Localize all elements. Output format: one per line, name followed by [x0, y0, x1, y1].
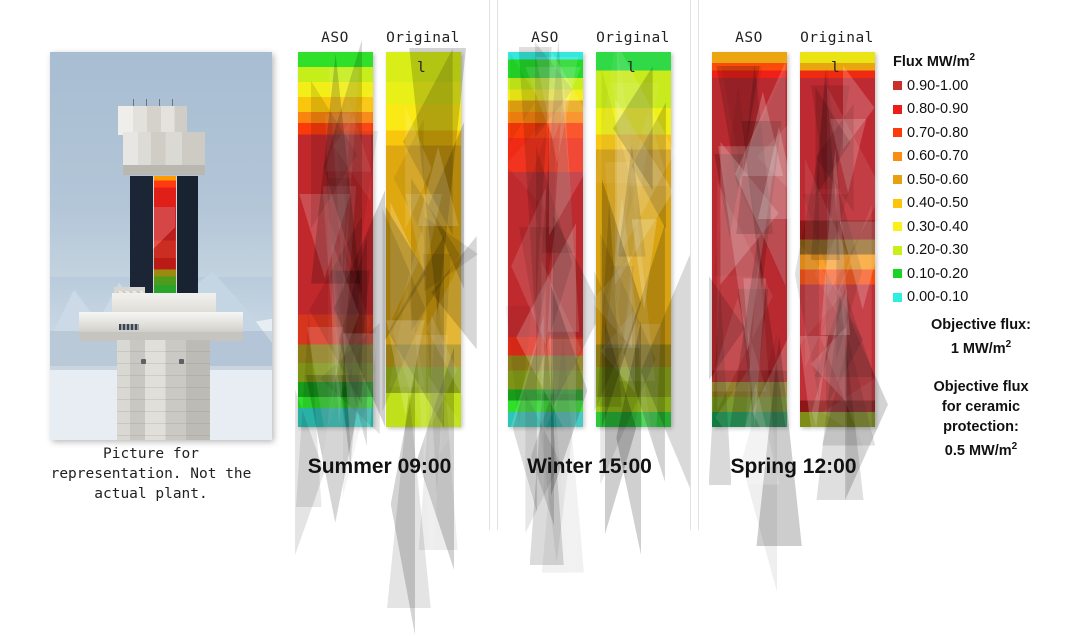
legend-row: 0.50-0.60 — [893, 168, 1065, 192]
flux-map-column-header: Original — [590, 30, 676, 46]
ceramic-value: 0.5 MW/m2 — [897, 437, 1065, 461]
panel-divider — [489, 0, 490, 530]
panel-divider — [497, 0, 498, 530]
tower-vent — [119, 324, 139, 330]
flux-map-row — [508, 52, 671, 427]
photo-image — [50, 52, 272, 440]
legend-row: 0.00-0.10 — [893, 285, 1065, 309]
legend-swatch-icon — [893, 222, 902, 231]
legend-swatch-icon — [893, 199, 902, 208]
tower-platform-upper — [112, 293, 216, 313]
legend-row: 0.10-0.20 — [893, 262, 1065, 286]
ceramic-protection-block: Objective flux for ceramic protection: 0… — [893, 377, 1065, 461]
flux-map-column-header: Original — [794, 30, 880, 46]
legend-swatch-icon — [893, 293, 902, 302]
ceramic-title-line-1: Objective flux — [897, 377, 1065, 397]
legend-entries: 0.90-1.000.80-0.900.70-0.800.60-0.700.50… — [893, 74, 1065, 309]
legend-label: 0.10-0.20 — [907, 266, 968, 282]
season-label: Winter 15:00 — [508, 455, 671, 479]
flux-map-row — [712, 52, 875, 427]
receiver-flux-facets — [153, 207, 175, 269]
legend-swatch-icon — [893, 81, 902, 90]
legend-row: 0.40-0.50 — [893, 191, 1065, 215]
flux-facet-overlay — [596, 52, 671, 427]
column-header-wrapped-overflow: l — [627, 60, 636, 76]
legend-label: 0.40-0.50 — [907, 195, 968, 211]
legend-label: 0.60-0.70 — [907, 148, 968, 164]
ceramic-title-line-2: for ceramic — [897, 397, 1065, 417]
photo-caption-line-2: representation. Not the — [20, 464, 282, 484]
flux-map-row — [298, 52, 461, 427]
flux-facet-overlay — [298, 52, 373, 427]
tower-marker-right — [179, 359, 184, 364]
tower-shaft-texture — [117, 340, 210, 440]
flux-map — [596, 52, 671, 427]
flux-map-column-header: ASO — [706, 30, 792, 46]
flux-legend: Flux MW/m2 0.90-1.000.80-0.900.70-0.800.… — [893, 52, 1065, 460]
legend-swatch-icon — [893, 246, 902, 255]
legend-row: 0.90-1.00 — [893, 74, 1065, 98]
objective-flux-block: Objective flux: 1 MW/m2 — [893, 315, 1065, 359]
column-header-wrapped-overflow: l — [831, 60, 840, 76]
legend-title: Flux MW/m2 — [893, 52, 1065, 70]
legend-label: 0.00-0.10 — [907, 289, 968, 305]
flux-facet-overlay — [386, 52, 461, 427]
figure-canvas: Picture for representation. Not the actu… — [0, 0, 1070, 530]
column-headers: ASOOriginal — [712, 30, 875, 54]
flux-map — [800, 52, 875, 427]
legend-label: 0.90-1.00 — [907, 78, 968, 94]
flux-map-column-header: ASO — [502, 30, 588, 46]
legend-swatch-icon — [893, 269, 902, 278]
legend-row: 0.60-0.70 — [893, 144, 1065, 168]
legend-label: 0.50-0.60 — [907, 172, 968, 188]
receiver-panel-left — [130, 176, 153, 292]
season-label: Spring 12:00 — [712, 455, 875, 479]
season-label: Summer 09:00 — [298, 455, 461, 479]
tower-platform-lower — [79, 312, 243, 333]
flux-map-column-header: ASO — [292, 30, 378, 46]
flux-map — [298, 52, 373, 427]
flux-map — [386, 52, 461, 427]
legend-swatch-icon — [893, 175, 902, 184]
panel-divider — [698, 0, 699, 530]
legend-row: 0.80-0.90 — [893, 97, 1065, 121]
flux-map — [712, 52, 787, 427]
flux-facet-overlay — [800, 52, 875, 427]
legend-swatch-icon — [893, 152, 902, 161]
legend-row: 0.70-0.80 — [893, 121, 1065, 145]
flux-map-column-header: Original — [380, 30, 466, 46]
photo-caption-line-3: actual plant. — [20, 484, 282, 504]
ceramic-title-line-3: protection: — [897, 417, 1065, 437]
flux-map — [508, 52, 583, 427]
column-header-wrapped-overflow: l — [417, 60, 426, 76]
legend-row: 0.30-0.40 — [893, 215, 1065, 239]
legend-label: 0.70-0.80 — [907, 125, 968, 141]
photo-caption: Picture for representation. Not the actu… — [20, 444, 282, 504]
legend-label: 0.80-0.90 — [907, 101, 968, 117]
legend-row: 0.20-0.30 — [893, 238, 1065, 262]
panel-divider — [690, 0, 691, 530]
legend-swatch-icon — [893, 128, 902, 137]
legend-title-text: Flux MW/m2 — [893, 54, 975, 70]
legend-label: 0.30-0.40 — [907, 219, 968, 235]
receiver-panel-right — [174, 176, 197, 292]
flux-facet-overlay — [712, 52, 787, 427]
flux-facet-overlay — [508, 52, 583, 427]
objective-flux-value: 1 MW/m2 — [897, 335, 1065, 359]
tower-marker-left — [141, 359, 146, 364]
photo-caption-line-1: Picture for — [20, 444, 282, 464]
solar-tower-photo — [50, 52, 272, 440]
objective-flux-title: Objective flux: — [897, 315, 1065, 335]
legend-swatch-icon — [893, 105, 902, 114]
tower-cap-shadow — [123, 165, 205, 175]
legend-label: 0.20-0.30 — [907, 242, 968, 258]
